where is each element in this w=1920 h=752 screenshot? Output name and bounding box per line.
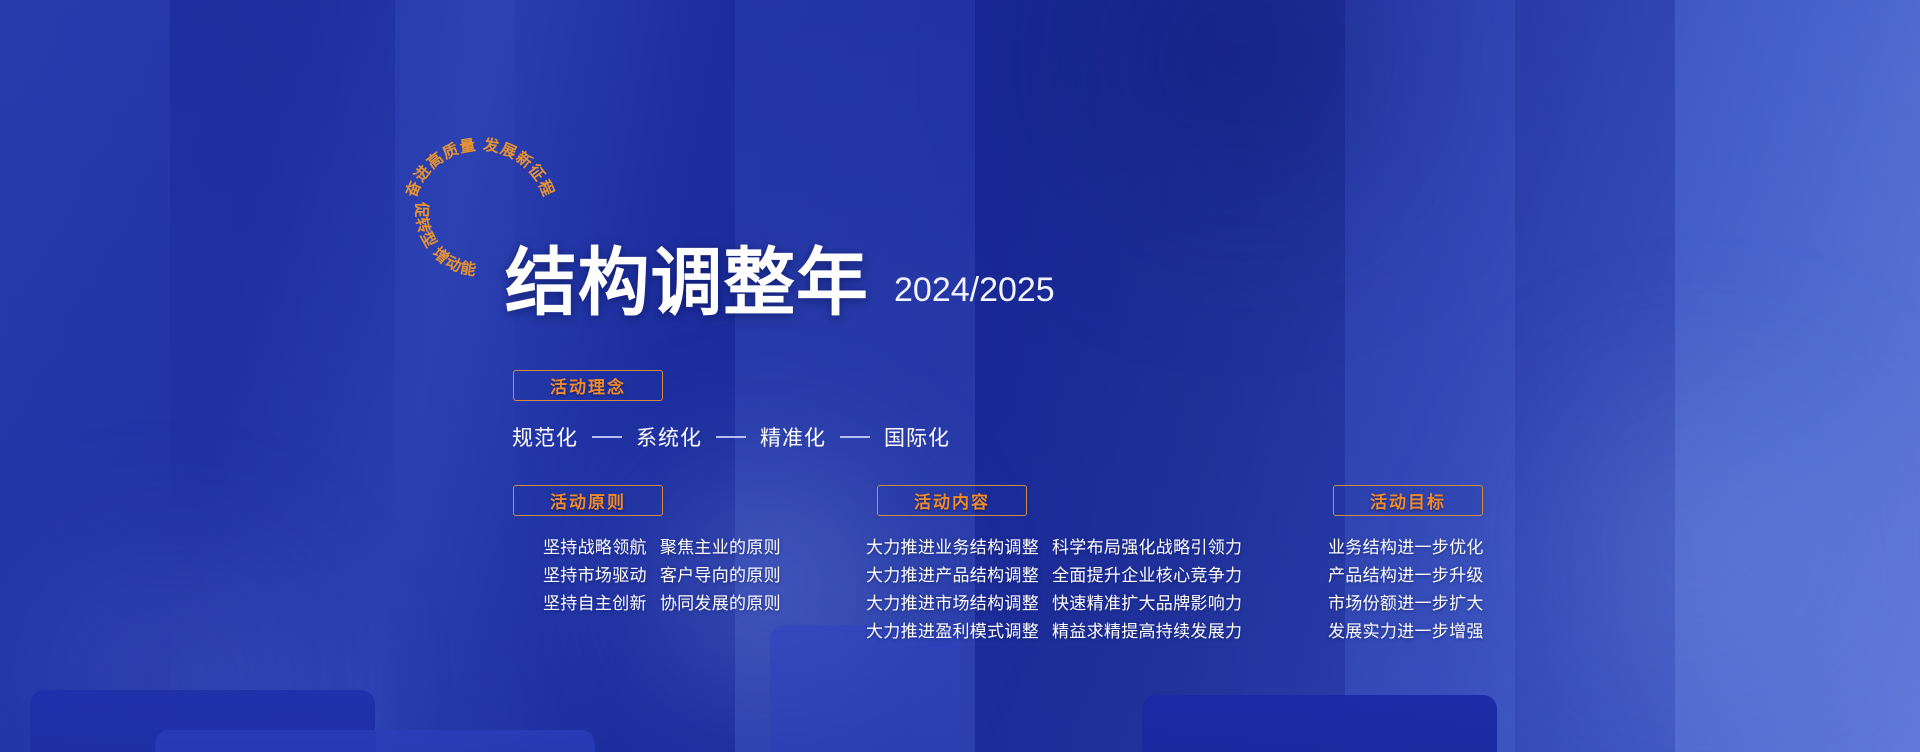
building-block-1	[30, 690, 375, 752]
emblem-arc-bottom-text: 促转型 增动能	[412, 201, 479, 280]
column-activity-content: 大力推进业务结构调整 科学布局强化战略引领力 大力推进产品结构调整 全面提升企业…	[866, 534, 1242, 646]
goal-row-3: 市场份额进一步扩大	[1328, 590, 1484, 618]
principle-row-2-part-a: 坚持市场驱动	[543, 562, 647, 590]
principle-row-1-part-b: 聚焦主业的原则	[660, 534, 781, 562]
emblem-arc-top-text: 奋进高质量 发展新征程	[401, 135, 558, 201]
column-activity-goal: 业务结构进一步优化 产品结构进一步升级 市场份额进一步扩大 发展实力进一步增强	[1328, 534, 1484, 646]
list-item: 坚持市场驱动 客户导向的原则	[543, 562, 781, 590]
badge-activity-goal: 活动目标	[1333, 485, 1483, 516]
list-item: 产品结构进一步升级	[1328, 562, 1484, 590]
list-item: 大力推进产品结构调整 全面提升企业核心竞争力	[866, 562, 1242, 590]
goal-row-2: 产品结构进一步升级	[1328, 562, 1484, 590]
principle-row-1-part-a: 坚持战略领航	[543, 534, 647, 562]
badge-activity-content: 活动内容	[877, 485, 1027, 516]
building-block-2	[155, 730, 595, 752]
concept-word-4: 国际化	[884, 422, 950, 452]
bg-band-1	[0, 0, 170, 752]
bg-band-7	[1515, 0, 1675, 752]
column-activity-principle: 坚持战略领航 聚焦主业的原则 坚持市场驱动 客户导向的原则 坚持自主创新 协同发…	[543, 534, 781, 618]
content-row-1-part-a: 大力推进业务结构调整	[866, 534, 1039, 562]
concept-keywords-row: 规范化 系统化 精准化 国际化	[512, 422, 950, 452]
year-range-label: 2024/2025	[894, 271, 1055, 318]
emblem-arc-bottom-textpath: 促转型 增动能	[412, 201, 479, 280]
list-item: 坚持自主创新 协同发展的原则	[543, 590, 781, 618]
concept-separator-2	[716, 436, 746, 438]
content-row-3-part-a: 大力推进市场结构调整	[866, 590, 1039, 618]
list-item: 发展实力进一步增强	[1328, 618, 1484, 646]
concept-word-3: 精准化	[760, 422, 826, 452]
badge-activity-content-label: 活动内容	[914, 488, 990, 513]
bg-band-8	[1675, 0, 1920, 752]
principle-row-2-part-b: 客户导向的原则	[660, 562, 781, 590]
content-row-2-part-a: 大力推进产品结构调整	[866, 562, 1039, 590]
content-row-4-part-b: 精益求精提高持续发展力	[1052, 618, 1242, 646]
building-block-4	[1142, 695, 1497, 752]
concept-word-2: 系统化	[636, 422, 702, 452]
banner-canvas: 奋进高质量 发展新征程 促转型 增动能 结构调整年 2024/2025 活动理念…	[0, 0, 1920, 752]
emblem-arc-top-textpath: 奋进高质量 发展新征程	[401, 135, 558, 201]
badge-activity-concept: 活动理念	[513, 370, 663, 401]
concept-separator-1	[592, 436, 622, 438]
badge-activity-goal-label: 活动目标	[1370, 488, 1446, 513]
list-item: 大力推进盈利模式调整 精益求精提高持续发展力	[866, 618, 1242, 646]
bg-band-3	[395, 0, 515, 752]
content-row-4-part-a: 大力推进盈利模式调整	[866, 618, 1039, 646]
goal-row-4: 发展实力进一步增强	[1328, 618, 1484, 646]
glow-left-bottom	[0, 520, 420, 752]
glow-right	[1430, 330, 1920, 752]
list-item: 坚持战略领航 聚焦主业的原则	[543, 534, 781, 562]
content-row-1-part-b: 科学布局强化战略引领力	[1052, 534, 1242, 562]
principle-row-3-part-a: 坚持自主创新	[543, 590, 647, 618]
principle-row-3-part-b: 协同发展的原则	[660, 590, 781, 618]
list-item: 大力推进业务结构调整 科学布局强化战略引领力	[866, 534, 1242, 562]
content-row-3-part-b: 快速精准扩大品牌影响力	[1052, 590, 1242, 618]
concept-separator-3	[840, 436, 870, 438]
content-row-2-part-b: 全面提升企业核心竞争力	[1052, 562, 1242, 590]
badge-activity-principle: 活动原则	[513, 485, 663, 516]
list-item: 大力推进市场结构调整 快速精准扩大品牌影响力	[866, 590, 1242, 618]
goal-row-1: 业务结构进一步优化	[1328, 534, 1484, 562]
badge-activity-principle-label: 活动原则	[550, 488, 626, 513]
glow-top-dark	[980, 0, 1500, 280]
concept-word-1: 规范化	[512, 422, 578, 452]
title-row: 结构调整年 2024/2025	[505, 248, 1055, 318]
badge-activity-concept-label: 活动理念	[550, 373, 626, 398]
bg-band-2	[170, 0, 395, 752]
list-item: 业务结构进一步优化	[1328, 534, 1484, 562]
page-title: 结构调整年	[505, 248, 869, 318]
list-item: 市场份额进一步扩大	[1328, 590, 1484, 618]
